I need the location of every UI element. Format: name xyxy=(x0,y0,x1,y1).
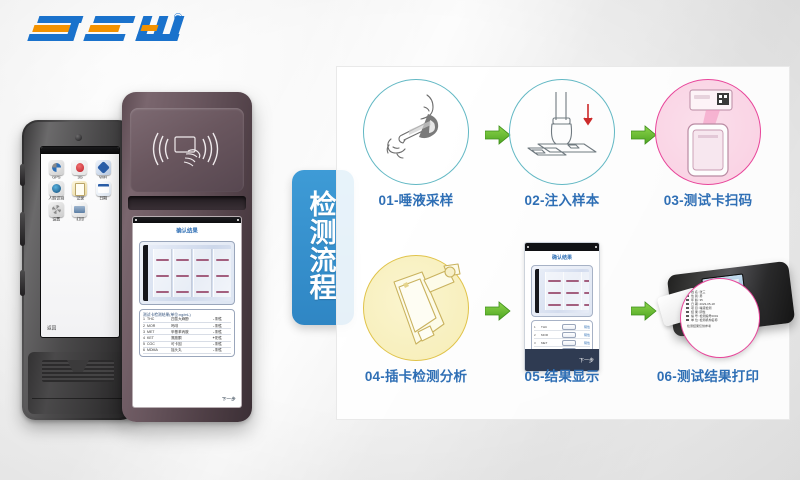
card-insert-analysis-illustration xyxy=(363,255,469,361)
result-display-device: 确认结果 1THC 阴性 xyxy=(510,255,614,359)
signal-3g-icon xyxy=(72,160,87,175)
mock-status-bar xyxy=(525,243,599,251)
device-a-screen: GPS 3G WiFi 人脸识别 记录 xyxy=(40,146,120,338)
nfc-pad xyxy=(130,108,244,192)
process-flow-panel: 01-唾液采样 xyxy=(336,66,790,420)
flow-step-04: 04-插卡检测分析 xyxy=(341,243,491,419)
printer-slot xyxy=(128,196,246,210)
printout-magnifier: 结果 姓 名: 张三 性 别: 男 年 龄: 35 日 期: 2023-05-1… xyxy=(680,278,760,358)
step-caption: 01-唾液采样 xyxy=(341,189,491,209)
card-scan-icon xyxy=(662,86,754,178)
flow-step-02: 02-注入样本 xyxy=(487,67,637,243)
mock-screen-title: 确认结果 xyxy=(525,251,599,262)
flow-step-01: 01-唾液采样 xyxy=(341,67,491,243)
mock-strip-preview xyxy=(531,265,593,317)
app-icon-wifi[interactable]: WiFi xyxy=(92,160,115,179)
strip-edge xyxy=(143,245,148,301)
saliva-swab-illustration xyxy=(363,79,469,185)
device-a-side-button-2 xyxy=(20,212,25,246)
printer-icon xyxy=(72,202,87,217)
face-recognition-icon xyxy=(49,181,64,196)
flow-row-2: 04-插卡检测分析 确认结果 xyxy=(337,243,789,419)
mock-strip-edge xyxy=(535,269,539,313)
sample-injection-illustration xyxy=(509,79,615,185)
device-a-side-button-3 xyxy=(20,270,25,296)
step-caption: 03-测试卡扫码 xyxy=(633,189,783,209)
title-char: 程 xyxy=(310,275,337,303)
device-screen-mock: 确认结果 1THC 阴性 xyxy=(524,242,600,372)
table-row: 6 MDMA 摇头丸 - 阴性 xyxy=(143,347,231,353)
device-a-status-bar xyxy=(41,147,119,154)
step-caption: 04-插卡检测分析 xyxy=(341,365,491,385)
card-insert-icon xyxy=(370,262,462,354)
mock-strip-image xyxy=(535,269,589,313)
flow-step-03: 03-测试卡扫码 xyxy=(633,67,783,243)
device-a-app-grid: GPS 3G WiFi 人脸识别 记录 xyxy=(41,154,119,224)
step-caption: 05-结果显示 xyxy=(487,365,637,385)
mock-next-button[interactable]: 下一步 xyxy=(579,357,594,364)
back-link[interactable]: 返回 xyxy=(47,326,56,333)
next-step-button[interactable]: 下一步 xyxy=(222,397,236,404)
gps-icon xyxy=(49,160,64,175)
handheld-device-black: GPS 3G WiFi 人脸识别 记录 xyxy=(22,120,134,420)
wifi-icon xyxy=(96,160,111,175)
test-strip-image xyxy=(143,245,231,301)
device-a-battery-seam xyxy=(32,398,124,399)
app-icon-calendar[interactable]: 日期 xyxy=(92,181,115,200)
flow-step-05: 确认结果 1THC 阴性 xyxy=(487,243,637,419)
sample-injection-icon xyxy=(516,86,608,178)
app-label: 3G xyxy=(77,176,82,180)
test-strip-preview xyxy=(139,241,235,305)
result-table: 1 THC 四氢大麻酚 - 阴性 2 MOR 吗啡 - 阴性 xyxy=(143,317,231,354)
app-label: GPS xyxy=(52,176,60,180)
flow-step-06: 结果 姓 名: 张三 性 别: 男 年 龄: 35 日 期: 2023-05-1… xyxy=(633,243,783,419)
device-a-lower-body xyxy=(28,352,128,414)
card-scan-illustration xyxy=(655,79,761,185)
step-caption: 06-测试结果打印 xyxy=(633,365,783,385)
nfc-card-tap-icon xyxy=(150,127,224,173)
app-icon-settings[interactable]: 设置 xyxy=(45,202,68,221)
app-label: 人脸识别 xyxy=(48,197,64,201)
brand-logo: ® xyxy=(14,8,204,52)
flow-row-1: 01-唾液采样 xyxy=(337,67,789,243)
settings-icon xyxy=(49,202,64,217)
step-caption: 02-注入样本 xyxy=(487,189,637,209)
device-a-side-button-1 xyxy=(20,164,25,186)
printing-device: 结果 姓 名: 张三 性 别: 男 年 龄: 35 日 期: 2023-05-1… xyxy=(656,255,760,359)
app-label: 设置 xyxy=(52,218,60,222)
app-icon-3g[interactable]: 3G xyxy=(69,160,92,179)
brand-logo-mark: ® xyxy=(14,8,204,52)
app-icon-notes[interactable]: 记录 xyxy=(69,181,92,200)
title-char: 流 xyxy=(310,248,337,276)
calendar-icon xyxy=(96,181,111,196)
list-item: 3MET 阴性 xyxy=(534,339,590,347)
result-table-box: 测试卡检测结果(单位:ng/mL) 1 THC 四氢大麻酚 - 阴性 2 MOR xyxy=(139,309,235,357)
saliva-swab-icon xyxy=(371,87,461,177)
product-photo-group: GPS 3G WiFi 人脸识别 记录 xyxy=(10,92,280,432)
list-item: 1THC 阴性 xyxy=(534,323,590,331)
printout-footer: 检测结果仅供参考 xyxy=(681,322,759,328)
notes-icon xyxy=(72,181,87,196)
app-label: 打印 xyxy=(76,218,84,222)
app-icon-print[interactable]: 打印 xyxy=(69,202,92,221)
screen-title: 确认结果 xyxy=(132,223,242,238)
app-label: WiFi xyxy=(100,176,108,180)
app-icon-face[interactable]: 人脸识别 xyxy=(45,181,68,200)
device-b-screen: 确认结果 测试卡检测结果(单位:ng/mL) 1 THC xyxy=(132,216,242,408)
title-char: 测 xyxy=(310,220,337,248)
registered-mark: ® xyxy=(174,12,182,24)
list-item: 2MOR 阴性 xyxy=(534,331,590,339)
device-a-camera xyxy=(75,134,82,141)
app-icon-gps[interactable]: GPS xyxy=(45,160,68,179)
app-label: 记录 xyxy=(76,197,84,201)
app-label: 日期 xyxy=(100,197,108,201)
title-char: 检 xyxy=(310,192,337,220)
handheld-device-mauve: 确认结果 测试卡检测结果(单位:ng/mL) 1 THC xyxy=(122,92,252,422)
